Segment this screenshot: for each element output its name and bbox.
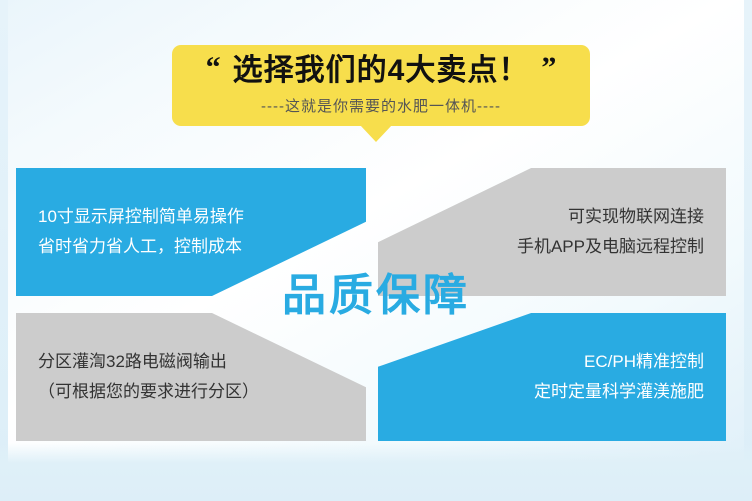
right-edge-strip	[744, 0, 752, 501]
feature-line: 分区灌渹32路电磁阀输出	[38, 347, 259, 377]
feature-line: EC/PH精准控制	[534, 347, 704, 377]
headline-subtitle: ----这就是你需要的水肥一体机----	[172, 95, 590, 116]
headline-title: 选择我们的4大卖点！	[233, 51, 530, 91]
promo-poster: “ 选择我们的4大卖点！ ” ----这就是你需要的水肥一体机---- 10寸显…	[0, 0, 752, 501]
close-quote-icon: ”	[541, 53, 556, 83]
feature-panel-top-left-text: 10寸显示屏控制简单易操作 省时省力省人工，控制成本	[38, 202, 244, 262]
feature-line: 可实现物联网连接	[517, 202, 704, 232]
feature-line: 手机APP及电脑远程控制	[517, 232, 704, 262]
headline-banner: “ 选择我们的4大卖点！ ” ----这就是你需要的水肥一体机----	[172, 45, 590, 126]
feature-panel-bottom-left: 分区灌渹32路电磁阀输出 （可根据您的要求进行分区）	[16, 313, 366, 441]
feature-panel-bottom-right-text: EC/PH精准控制 定时定量科学灌渼施肥	[534, 347, 704, 407]
headline-title-row: “ 选择我们的4大卖点！ ”	[172, 51, 590, 91]
center-quality-label: 品质保障	[0, 268, 752, 324]
feature-line: 10寸显示屏控制简单易操作	[38, 202, 244, 232]
feature-panel-bottom-right: EC/PH精准控制 定时定量科学灌渼施肥	[378, 313, 726, 441]
left-edge-strip	[0, 0, 8, 501]
banner-pointer-icon	[360, 125, 392, 142]
feature-panel-bottom-left-text: 分区灌渹32路电磁阀输出 （可根据您的要求进行分区）	[38, 347, 259, 407]
feature-line: 定时定量科学灌渼施肥	[534, 377, 704, 407]
feature-line: 省时省力省人工，控制成本	[38, 232, 244, 262]
open-quote-icon: “	[206, 53, 221, 83]
feature-line: （可根据您的要求进行分区）	[38, 377, 259, 407]
feature-panel-top-right-text: 可实现物联网连接 手机APP及电脑远程控制	[517, 202, 704, 262]
bottom-edge-strip	[0, 443, 752, 501]
